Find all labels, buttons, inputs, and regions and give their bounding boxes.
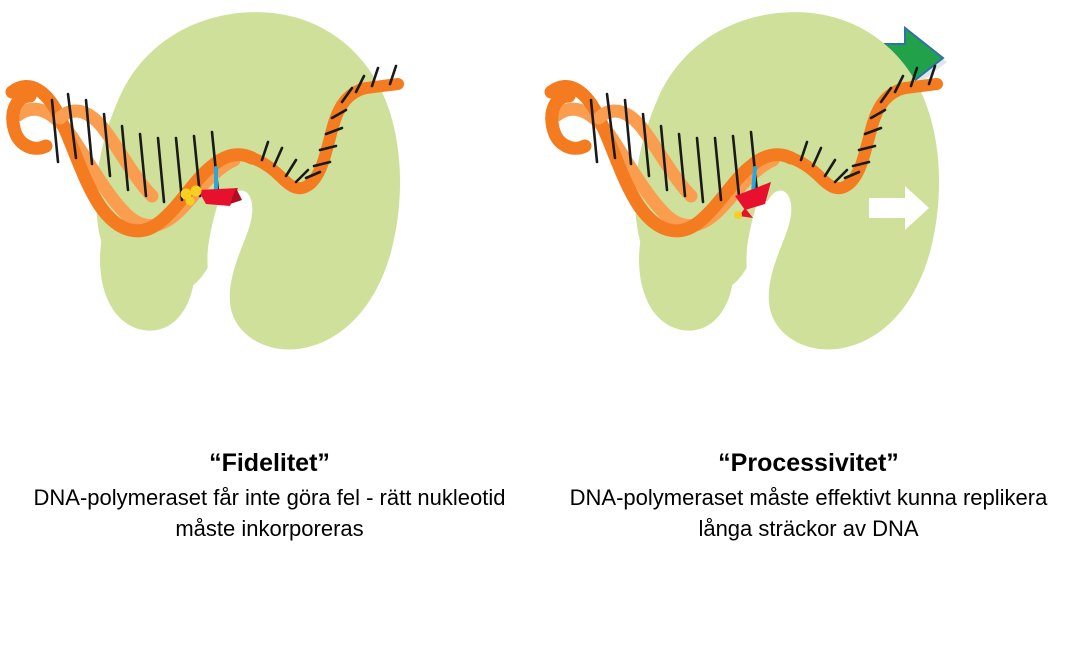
panel-fidelity: “Fidelitet” DNA-polymeraset får inte gör…	[0, 0, 539, 666]
dna-polymerase-processivity-illustration	[539, 0, 1078, 430]
caption-body-fidelity: DNA-polymeraset får inte göra fel - rätt…	[0, 482, 539, 544]
caption-processivity: “Processivitet” DNA-polymeraset måste ef…	[539, 446, 1078, 544]
caption-title-processivity: “Processivitet”	[539, 446, 1078, 480]
nucleotide-yellow-c	[186, 197, 195, 206]
panel-processivity: “Processivitet” DNA-polymeraset måste ef…	[539, 0, 1078, 666]
nucleotide-yellow-a	[734, 211, 742, 219]
slide-canvas: “Fidelitet” DNA-polymeraset får inte gör…	[0, 0, 1078, 666]
caption-body-processivity: DNA-polymeraset måste effektivt kunna re…	[539, 482, 1078, 544]
nucleotide-yellow-b	[191, 186, 202, 197]
caption-fidelity: “Fidelitet” DNA-polymeraset får inte gör…	[0, 446, 539, 544]
caption-title-fidelity: “Fidelitet”	[0, 446, 539, 480]
dna-polymerase-fidelity-illustration	[0, 0, 539, 430]
